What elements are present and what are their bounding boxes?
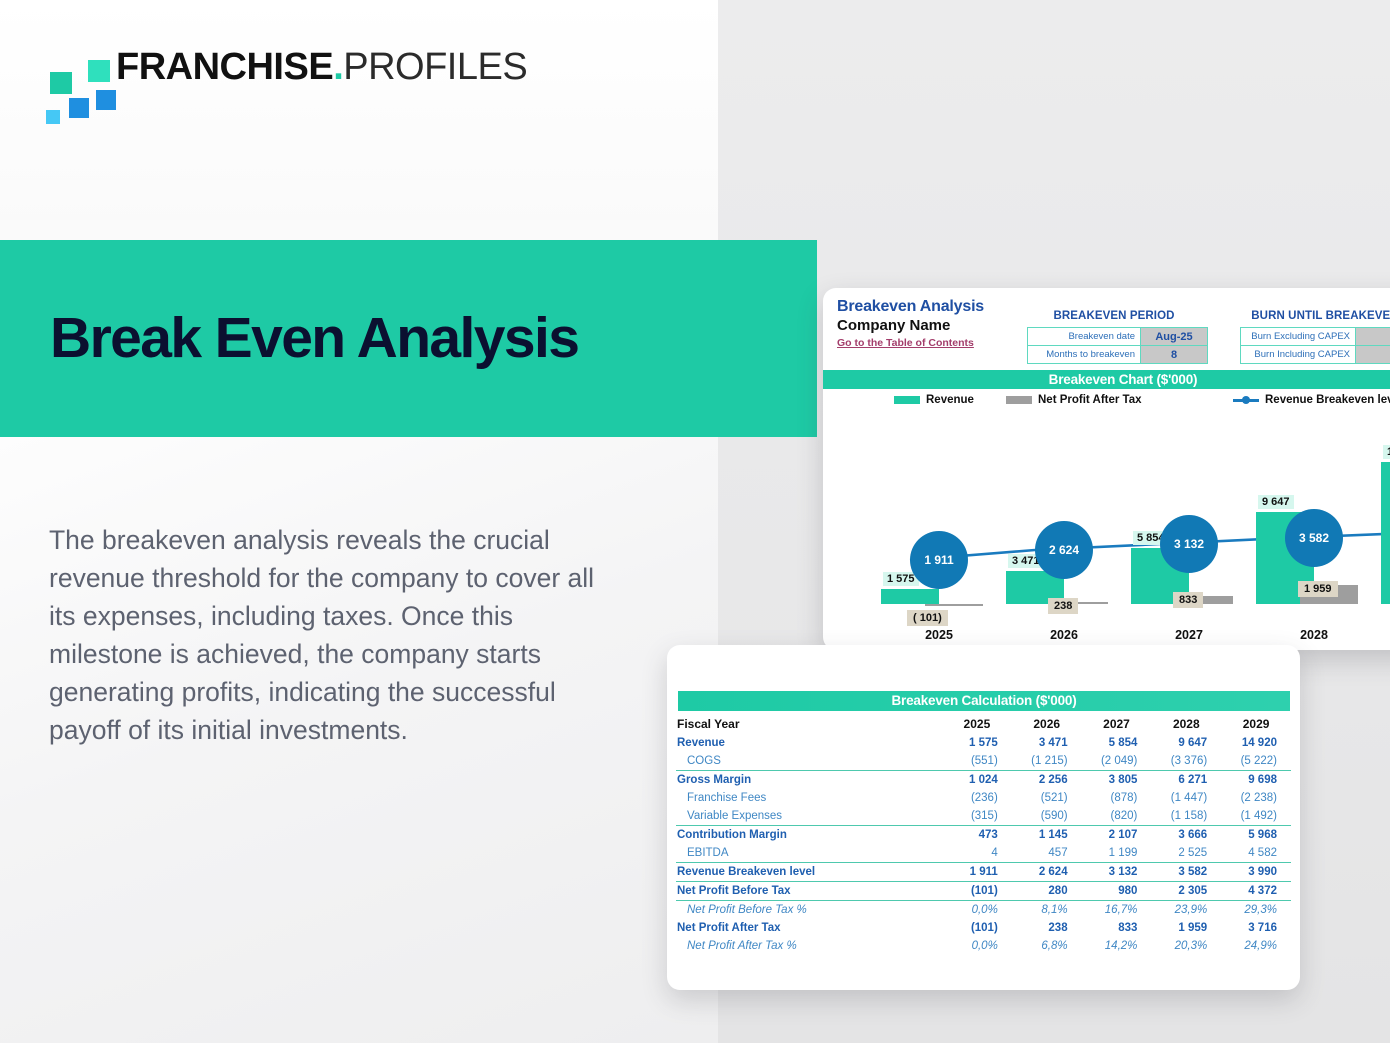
table-row: Burn Excluding CAPEX xyxy=(1241,328,1390,346)
brand-logo: FRANCHISE.PROFILES xyxy=(44,42,544,102)
table-header-row: Fiscal Year 2025 2026 2027 2028 2029 xyxy=(676,715,1291,734)
cell-2025: (551) xyxy=(942,752,1012,771)
chart-card-company: Company Name xyxy=(837,317,984,334)
cell-2027: 1 199 xyxy=(1082,844,1152,863)
cell-2028: 3 666 xyxy=(1151,826,1221,845)
legend-label-revenue: Revenue xyxy=(926,394,974,406)
table-title-bar: Breakeven Calculation ($'000) xyxy=(678,691,1290,711)
chart-title-bar: Breakeven Chart ($'000) xyxy=(823,370,1390,389)
table-row: Months to breakeven 8 xyxy=(1028,346,1208,364)
cell-2028: 9 647 xyxy=(1151,734,1221,752)
cell-2029: 24,9% xyxy=(1221,937,1291,955)
cell-2027: (2 049) xyxy=(1082,752,1152,771)
table-row: Net Profit Before Tax(101)2809802 3054 3… xyxy=(676,882,1291,901)
cell-2026: (590) xyxy=(1012,807,1082,826)
row-label: Net Profit After Tax % xyxy=(676,937,942,955)
breakeven-date-label: Breakeven date xyxy=(1028,328,1141,346)
cell-2026: 280 xyxy=(1012,882,1082,901)
revenue-breakeven-bubble-2027: 3 132 xyxy=(1160,515,1218,573)
logo-square-teal-top xyxy=(88,60,110,82)
x-axis-tick-2028: 2028 xyxy=(1279,628,1349,642)
cell-2028: 20,3% xyxy=(1151,937,1221,955)
table-row: Gross Margin1 0242 2563 8056 2719 698 xyxy=(676,771,1291,790)
cell-2029: 4 582 xyxy=(1221,844,1291,863)
cell-2029: 14 920 xyxy=(1221,734,1291,752)
table-row: Franchise Fees(236)(521)(878)(1 447)(2 2… xyxy=(676,789,1291,807)
row-label: COGS xyxy=(676,752,942,771)
x-axis-tick-2026: 2026 xyxy=(1029,628,1099,642)
x-axis-tick-2025: 2025 xyxy=(904,628,974,642)
cell-2028: 6 271 xyxy=(1151,771,1221,790)
table-of-contents-link[interactable]: Go to the Table of Contents xyxy=(837,337,984,349)
logo-square-cyan-small xyxy=(46,110,60,124)
cell-2027: 3 132 xyxy=(1082,863,1152,882)
cell-2025: 1 911 xyxy=(942,863,1012,882)
cell-2029: (1 492) xyxy=(1221,807,1291,826)
table-body: Revenue1 5753 4715 8549 64714 920COGS(55… xyxy=(676,734,1291,955)
row-label: Franchise Fees xyxy=(676,789,942,807)
cell-2029: 3 990 xyxy=(1221,863,1291,882)
revenue-breakeven-bubble-2026: 2 624 xyxy=(1035,521,1093,579)
revenue-value-label-2029: 14 920 xyxy=(1383,445,1390,459)
legend-line-marker-icon xyxy=(1233,396,1259,404)
months-to-breakeven-value: 8 xyxy=(1141,346,1208,364)
revenue-value-label-2028: 9 647 xyxy=(1258,495,1294,509)
cell-2026: 238 xyxy=(1012,919,1082,937)
row-label: Net Profit After Tax xyxy=(676,919,942,937)
table-row: COGS(551)(1 215)(2 049)(3 376)(5 222) xyxy=(676,752,1291,771)
logo-square-teal-left xyxy=(50,72,72,94)
net-profit-after-tax-value-label-2027: 833 xyxy=(1173,592,1203,608)
cell-2027: 16,7% xyxy=(1082,901,1152,920)
cell-2028: (3 376) xyxy=(1151,752,1221,771)
cell-2025: 1 024 xyxy=(942,771,1012,790)
revenue-breakeven-bubble-2025: 1 911 xyxy=(910,531,968,589)
legend-item-revenue-breakeven-level: Revenue Breakeven level xyxy=(1233,394,1390,406)
cell-2025: 473 xyxy=(942,826,1012,845)
burn-excluding-capex-label: Burn Excluding CAPEX xyxy=(1241,328,1356,346)
revenue-bar-2025 xyxy=(881,589,939,604)
cell-2028: (1 158) xyxy=(1151,807,1221,826)
column-header-2027: 2027 xyxy=(1082,715,1152,734)
cell-2029: (5 222) xyxy=(1221,752,1291,771)
logo-word-franchise: FRANCHISE xyxy=(116,46,333,88)
cell-2027: 2 107 xyxy=(1082,826,1152,845)
cell-2025: (315) xyxy=(942,807,1012,826)
cell-2028: 23,9% xyxy=(1151,901,1221,920)
cell-2028: 3 582 xyxy=(1151,863,1221,882)
logo-square-blue-mid xyxy=(69,98,89,118)
chart-card-header: Breakeven Analysis Company Name Go to th… xyxy=(837,298,984,349)
chart-card-title: Breakeven Analysis xyxy=(837,298,984,316)
chart-plot-area: 1 575( 101)1 91120253 4712382 62420265 8… xyxy=(823,416,1390,650)
cell-2029: 3 716 xyxy=(1221,919,1291,937)
cell-2029: 29,3% xyxy=(1221,901,1291,920)
logo-square-blue-right xyxy=(96,90,116,110)
breakeven-chart-card: Breakeven Analysis Company Name Go to th… xyxy=(823,288,1390,650)
cell-2026: (521) xyxy=(1012,789,1082,807)
cell-2026: 2 256 xyxy=(1012,771,1082,790)
cell-2028: 1 959 xyxy=(1151,919,1221,937)
table-row: Net Profit After Tax %0,0%6,8%14,2%20,3%… xyxy=(676,937,1291,955)
cell-2027: (878) xyxy=(1082,789,1152,807)
cell-2027: 3 805 xyxy=(1082,771,1152,790)
table-row: Breakeven date Aug-25 xyxy=(1028,328,1208,346)
table-row: Revenue1 5753 4715 8549 64714 920 xyxy=(676,734,1291,752)
cell-2027: 833 xyxy=(1082,919,1152,937)
cell-2026: 1 145 xyxy=(1012,826,1082,845)
revenue-bar-2029 xyxy=(1381,462,1390,604)
legend-label-revenue-breakeven-level: Revenue Breakeven level xyxy=(1265,394,1390,406)
breakeven-date-value: Aug-25 xyxy=(1141,328,1208,346)
row-label: Net Profit Before Tax % xyxy=(676,901,942,920)
cell-2025: (101) xyxy=(942,919,1012,937)
legend-item-net-profit-after-tax: Net Profit After Tax xyxy=(1006,394,1142,406)
burn-until-breakeven-heading: BURN UNTIL BREAKEVEN xyxy=(1215,310,1390,322)
chart-legend: Revenue Net Profit After Tax Revenue Bre… xyxy=(823,393,1390,413)
legend-label-net-profit-after-tax: Net Profit After Tax xyxy=(1038,394,1142,406)
legend-swatch-revenue-icon xyxy=(894,396,920,404)
x-axis-tick-2027: 2027 xyxy=(1154,628,1224,642)
table-row: EBITDA44571 1992 5254 582 xyxy=(676,844,1291,863)
cell-2026: 3 471 xyxy=(1012,734,1082,752)
net-profit-after-tax-bar-2025 xyxy=(925,604,983,606)
cell-2027: 5 854 xyxy=(1082,734,1152,752)
column-header-2028: 2028 xyxy=(1151,715,1221,734)
cell-2026: 6,8% xyxy=(1012,937,1082,955)
legend-swatch-net-profit-icon xyxy=(1006,396,1032,404)
cell-2027: 14,2% xyxy=(1082,937,1152,955)
cell-2025: 0,0% xyxy=(942,937,1012,955)
burn-including-capex-label: Burn Including CAPEX xyxy=(1241,346,1356,364)
table-row: Net Profit Before Tax %0,0%8,1%16,7%23,9… xyxy=(676,901,1291,920)
cell-2029: 9 698 xyxy=(1221,771,1291,790)
burn-until-breakeven-table: Burn Excluding CAPEX Burn Including CAPE… xyxy=(1240,327,1390,364)
legend-item-revenue: Revenue xyxy=(894,394,974,406)
table-header: Fiscal Year 2025 2026 2027 2028 2029 xyxy=(676,715,1291,734)
cell-2028: 2 525 xyxy=(1151,844,1221,863)
cell-2027: 980 xyxy=(1082,882,1152,901)
cell-2025: 1 575 xyxy=(942,734,1012,752)
breakeven-period-table: Breakeven date Aug-25 Months to breakeve… xyxy=(1027,327,1208,364)
table-row: Revenue Breakeven level1 9112 6243 1323 … xyxy=(676,863,1291,882)
cell-2025: (236) xyxy=(942,789,1012,807)
cell-2025: 0,0% xyxy=(942,901,1012,920)
cell-2028: (1 447) xyxy=(1151,789,1221,807)
table-row: Contribution Margin4731 1452 1073 6665 9… xyxy=(676,826,1291,845)
row-label: Variable Expenses xyxy=(676,807,942,826)
row-label: EBITDA xyxy=(676,844,942,863)
months-to-breakeven-label: Months to breakeven xyxy=(1028,346,1141,364)
cell-2028: 2 305 xyxy=(1151,882,1221,901)
cell-2026: (1 215) xyxy=(1012,752,1082,771)
cell-2029: 4 372 xyxy=(1221,882,1291,901)
column-header-2026: 2026 xyxy=(1012,715,1082,734)
column-header-fiscal-year: Fiscal Year xyxy=(676,715,942,734)
hero-description: The breakeven analysis reveals the cruci… xyxy=(49,521,614,749)
logo-word-profiles: PROFILES xyxy=(343,46,527,88)
row-label: Revenue xyxy=(676,734,942,752)
row-label: Revenue Breakeven level xyxy=(676,863,942,882)
column-header-2025: 2025 xyxy=(942,715,1012,734)
burn-excluding-capex-value xyxy=(1356,328,1390,346)
row-label: Contribution Margin xyxy=(676,826,942,845)
table-row: Burn Including CAPEX xyxy=(1241,346,1390,364)
table-row: Variable Expenses(315)(590)(820)(1 158)(… xyxy=(676,807,1291,826)
cell-2029: 5 968 xyxy=(1221,826,1291,845)
cell-2029: (2 238) xyxy=(1221,789,1291,807)
cell-2025: (101) xyxy=(942,882,1012,901)
burn-including-capex-value xyxy=(1356,346,1390,364)
breakeven-calculation-table: Fiscal Year 2025 2026 2027 2028 2029 Rev… xyxy=(676,715,1291,955)
cell-2026: 8,1% xyxy=(1012,901,1082,920)
cell-2026: 2 624 xyxy=(1012,863,1082,882)
cell-2027: (820) xyxy=(1082,807,1152,826)
logo-dot: . xyxy=(333,46,343,88)
cell-2026: 457 xyxy=(1012,844,1082,863)
row-label: Net Profit Before Tax xyxy=(676,882,942,901)
background-top-left xyxy=(0,0,718,240)
row-label: Gross Margin xyxy=(676,771,942,790)
net-profit-after-tax-value-label-2026: 238 xyxy=(1048,598,1078,614)
table-row: Net Profit After Tax(101)2388331 9593 71… xyxy=(676,919,1291,937)
breakeven-period-heading: BREAKEVEN PERIOD xyxy=(1019,310,1209,322)
breakeven-calculation-card: Breakeven Calculation ($'000) Fiscal Yea… xyxy=(667,645,1300,990)
net-profit-after-tax-value-label-2028: 1 959 xyxy=(1298,581,1338,597)
net-profit-after-tax-value-label-2025: ( 101) xyxy=(907,610,948,626)
logo-wordmark: FRANCHISE.PROFILES xyxy=(116,37,527,97)
column-header-2029: 2029 xyxy=(1221,715,1291,734)
revenue-breakeven-bubble-2028: 3 582 xyxy=(1285,509,1343,567)
cell-2025: 4 xyxy=(942,844,1012,863)
page-title: Break Even Analysis xyxy=(50,305,578,371)
